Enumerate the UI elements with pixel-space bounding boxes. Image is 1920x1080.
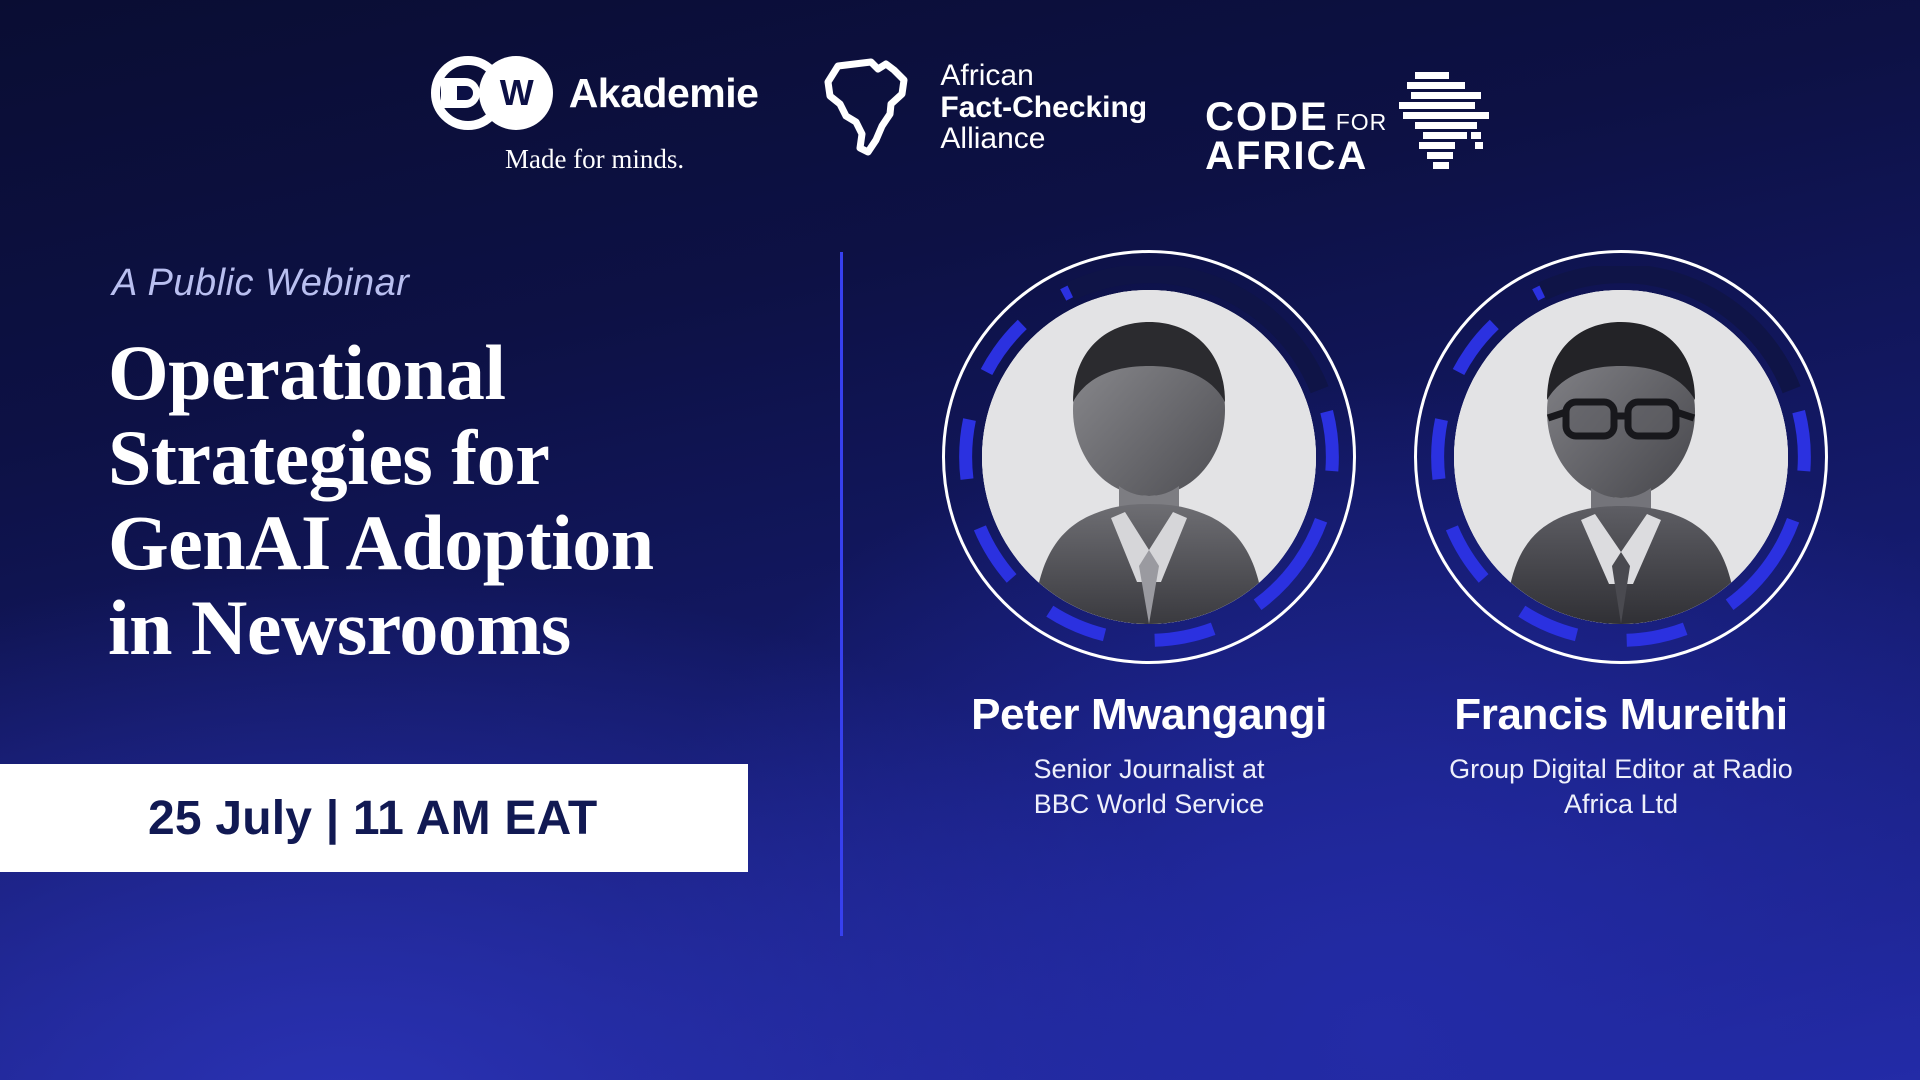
page-title: Operational Strategies for GenAI Adoptio… bbox=[108, 330, 798, 670]
speaker-role-line-2: BBC World Service bbox=[1033, 787, 1264, 822]
date-time-banner: 25 July | 11 AM EAT bbox=[0, 764, 748, 872]
eyebrow-label: A Public Webinar bbox=[112, 262, 409, 305]
speaker-role-line-1: Senior Journalist at bbox=[1033, 752, 1264, 787]
outer-ring bbox=[942, 250, 1356, 664]
logo-bar: W Akademie Made for minds. African Fact-… bbox=[0, 48, 1920, 176]
speaker-role: Senior Journalist at BBC World Service bbox=[1033, 752, 1264, 821]
speaker-name: Francis Mureithi bbox=[1454, 690, 1787, 740]
speaker-role-line-1: Group Digital Editor at Radio bbox=[1449, 752, 1793, 787]
africa-stripes-icon bbox=[1393, 70, 1489, 174]
speaker-role-line-2: Africa Ltd bbox=[1449, 787, 1793, 822]
headline-line-3: GenAI Adoption bbox=[108, 500, 798, 585]
speaker-name: Peter Mwangangi bbox=[971, 690, 1327, 740]
cfa-for-text: FOR bbox=[1336, 111, 1388, 134]
afca-line-2: Fact-Checking bbox=[940, 92, 1147, 124]
cfa-wordmark: CODE FOR AFRICA bbox=[1205, 98, 1387, 176]
vertical-divider bbox=[840, 252, 843, 936]
avatar bbox=[1414, 250, 1828, 664]
outer-ring bbox=[1414, 250, 1828, 664]
headline-line-2: Strategies for bbox=[108, 415, 798, 500]
africa-outline-icon bbox=[816, 52, 920, 163]
headline-line-4: in Newsrooms bbox=[108, 585, 798, 670]
avatar bbox=[942, 250, 1356, 664]
date-time-text: 25 July | 11 AM EAT bbox=[148, 791, 597, 846]
speakers-section: Peter Mwangangi Senior Journalist at BBC… bbox=[880, 250, 1890, 821]
speaker-card: Francis Mureithi Group Digital Editor at… bbox=[1411, 250, 1831, 821]
dw-akademie-wordmark: Akademie bbox=[569, 70, 759, 117]
cfa-code-text: CODE bbox=[1205, 98, 1329, 137]
afca-line-1: African bbox=[940, 60, 1147, 92]
speaker-role: Group Digital Editor at Radio Africa Ltd bbox=[1449, 752, 1793, 821]
headline-line-1: Operational bbox=[108, 330, 798, 415]
webinar-poster: W Akademie Made for minds. African Fact-… bbox=[0, 0, 1920, 1080]
cfa-africa-text: AFRICA bbox=[1205, 137, 1387, 176]
african-fact-checking-alliance-logo: African Fact-Checking Alliance bbox=[816, 48, 1147, 163]
afca-line-3: Alliance bbox=[940, 123, 1147, 155]
dw-logo-row: W Akademie bbox=[431, 56, 759, 130]
dw-tagline: Made for minds. bbox=[505, 144, 684, 175]
dw-akademie-logo: W Akademie Made for minds. bbox=[431, 48, 759, 175]
code-for-africa-logo: CODE FOR AFRICA bbox=[1205, 48, 1489, 176]
afca-wordmark: African Fact-Checking Alliance bbox=[940, 60, 1147, 155]
speaker-card: Peter Mwangangi Senior Journalist at BBC… bbox=[939, 250, 1359, 821]
dw-circles-logo-icon: W bbox=[431, 56, 553, 130]
